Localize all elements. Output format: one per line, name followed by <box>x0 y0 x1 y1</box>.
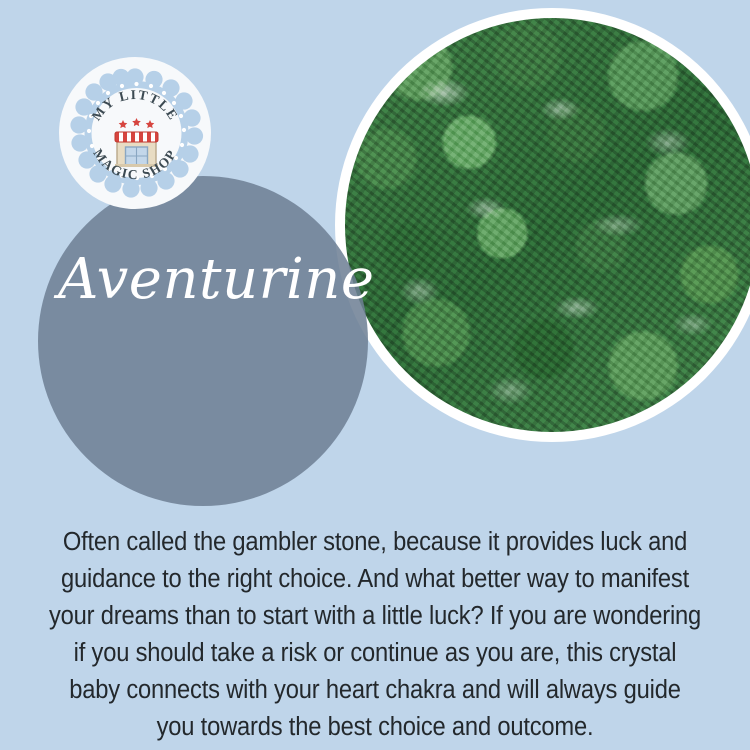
title-backdrop-circle <box>38 176 368 506</box>
page-title: Aventurine <box>58 252 388 308</box>
shop-storefront-icon <box>115 132 158 167</box>
logo-graphic: MY LITTLE MAGIC SHOP <box>59 57 211 209</box>
brand-logo-badge[interactable]: MY LITTLE MAGIC SHOP <box>59 57 211 209</box>
crystal-info-card: Aventurine <box>0 0 750 750</box>
aventurine-stones-image <box>345 18 750 432</box>
description-text: Often called the gambler stone, because … <box>49 524 702 746</box>
aventurine-photo-circle <box>335 8 750 442</box>
